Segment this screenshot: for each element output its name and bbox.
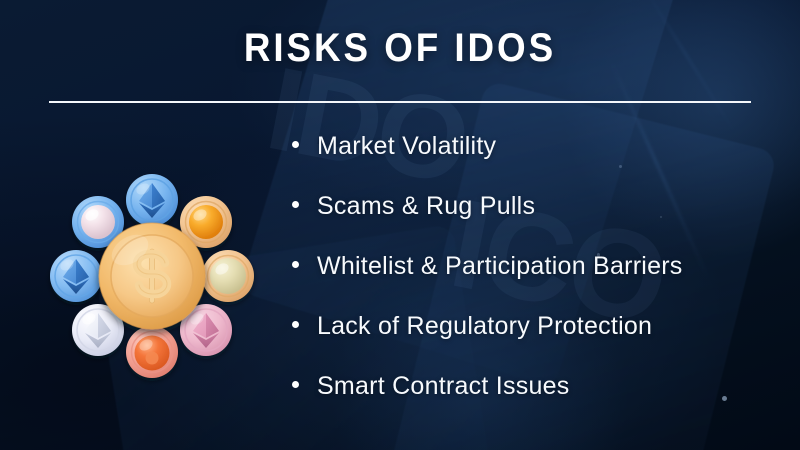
list-item-label: Whitelist & Participation Barriers [317, 252, 683, 281]
bullet-dot-icon [292, 321, 299, 328]
list-item-label: Scams & Rug Pulls [317, 192, 535, 221]
bullet-dot-icon [292, 261, 299, 268]
dollar-coin [99, 223, 205, 329]
satellite-orange-dome [126, 326, 178, 378]
page-title: RISKS OF IDOS [32, 26, 768, 71]
list-item-label: Lack of Regulatory Protection [317, 312, 652, 341]
token-network-illustration [26, 150, 278, 402]
list-item: Whitelist & Participation Barriers [292, 252, 792, 312]
list-item: Smart Contract Issues [292, 372, 792, 432]
bullet-dot-icon [292, 381, 299, 388]
slide-root: IDO ICO RISKS OF IDOS Market Volatility … [0, 0, 800, 450]
list-item: Lack of Regulatory Protection [292, 312, 792, 372]
bullet-dot-icon [292, 201, 299, 208]
title-divider [49, 101, 751, 103]
list-item-label: Market Volatility [317, 132, 496, 161]
bullet-dot-icon [292, 141, 299, 148]
list-item-label: Smart Contract Issues [317, 372, 570, 401]
satellite-cream-sphere [202, 250, 254, 302]
satellite-eth-blue-top [126, 174, 178, 226]
list-item: Market Volatility [292, 132, 792, 192]
list-item: Scams & Rug Pulls [292, 192, 792, 252]
satellite-eth-blue-left [50, 250, 102, 302]
risks-list: Market Volatility Scams & Rug Pulls Whit… [292, 132, 792, 432]
